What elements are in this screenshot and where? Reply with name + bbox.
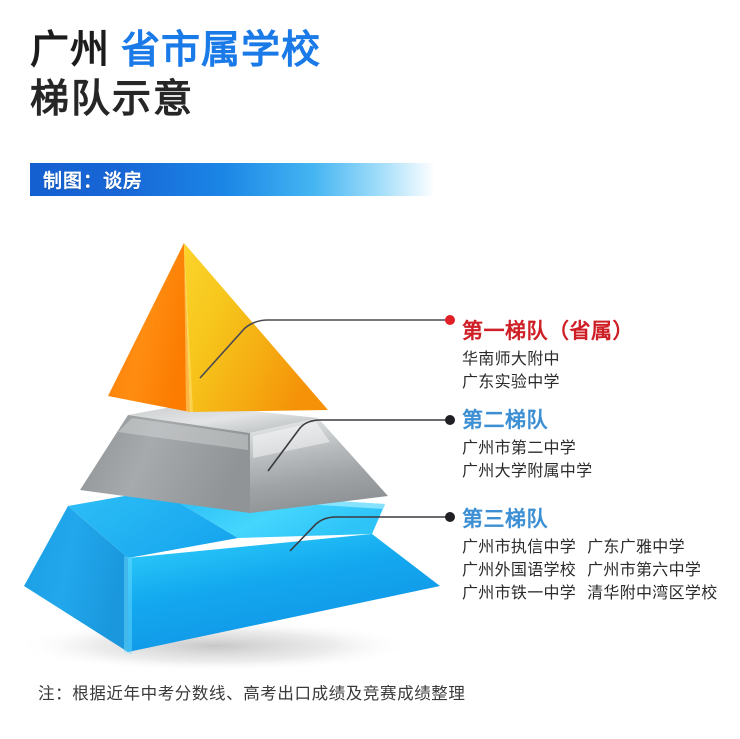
school-name: 清华附中湾区学校 <box>587 583 717 602</box>
footnote: 注：根据近年中考分数线、高考出口成绩及竞赛成绩整理 <box>38 680 466 704</box>
callout-tier-2: 第二梯队 广州市第二中学 广州大学附属中学 <box>462 407 592 482</box>
school-name: 华南师大附中 <box>462 349 560 368</box>
pyramid-tier-1-apex <box>108 243 328 412</box>
credit-text: 制图：谈房 <box>30 166 143 193</box>
tier-2-school-list: 广州市第二中学 广州大学附属中学 <box>462 436 592 482</box>
tier-1-heading: 第一梯队（省属） <box>462 318 634 344</box>
school-name: 广州市第六中学 <box>587 560 701 579</box>
school-name: 广州外国语学校 <box>462 560 576 579</box>
tier-2-heading: 第二梯队 <box>462 407 592 433</box>
dark-dot-marker-tier-3 <box>445 512 455 522</box>
list-item: 广州市执信中学广东广雅中学 <box>462 535 718 558</box>
school-name: 广州市执信中学 <box>462 537 576 556</box>
list-item: 广州外国语学校广州市第六中学 <box>462 558 718 581</box>
tier-3-school-list: 广州市执信中学广东广雅中学 广州外国语学校广州市第六中学 广州市铁一中学清华附中… <box>462 535 718 604</box>
list-item: 广东实验中学 <box>462 370 634 393</box>
callout-tier-3: 第三梯队 广州市执信中学广东广雅中学 广州外国语学校广州市第六中学 广州市铁一中… <box>462 506 718 604</box>
school-name: 广东实验中学 <box>462 372 560 391</box>
callout-tier-1: 第一梯队（省属） 华南师大附中 广东实验中学 <box>462 318 634 393</box>
red-dot-marker <box>445 315 455 325</box>
leader-dots <box>445 315 455 522</box>
dark-dot-marker-tier-2 <box>445 415 455 425</box>
title-city: 广州 <box>30 28 110 73</box>
school-name: 广州市铁一中学 <box>462 583 576 602</box>
title-accent: 省市属学校 <box>121 28 321 73</box>
pyramid-diagram <box>0 228 460 670</box>
list-item: 广州大学附属中学 <box>462 459 592 482</box>
page-title: 广州省市属学校 <box>30 28 530 74</box>
list-item: 广州市第二中学 <box>462 436 592 459</box>
tier-1-school-list: 华南师大附中 广东实验中学 <box>462 347 634 393</box>
credit-bar: 制图：谈房 <box>30 163 435 196</box>
tier-3-heading: 第三梯队 <box>462 506 718 532</box>
school-name: 广州市第二中学 <box>462 438 576 457</box>
school-name: 广州大学附属中学 <box>462 461 592 480</box>
page-header: 广州省市属学校 梯队示意 <box>30 28 530 123</box>
school-name: 广东广雅中学 <box>587 537 685 556</box>
pyramid-svg <box>0 228 460 670</box>
page-subtitle: 梯队示意 <box>30 77 530 123</box>
list-item: 华南师大附中 <box>462 347 634 370</box>
list-item: 广州市铁一中学清华附中湾区学校 <box>462 581 718 604</box>
